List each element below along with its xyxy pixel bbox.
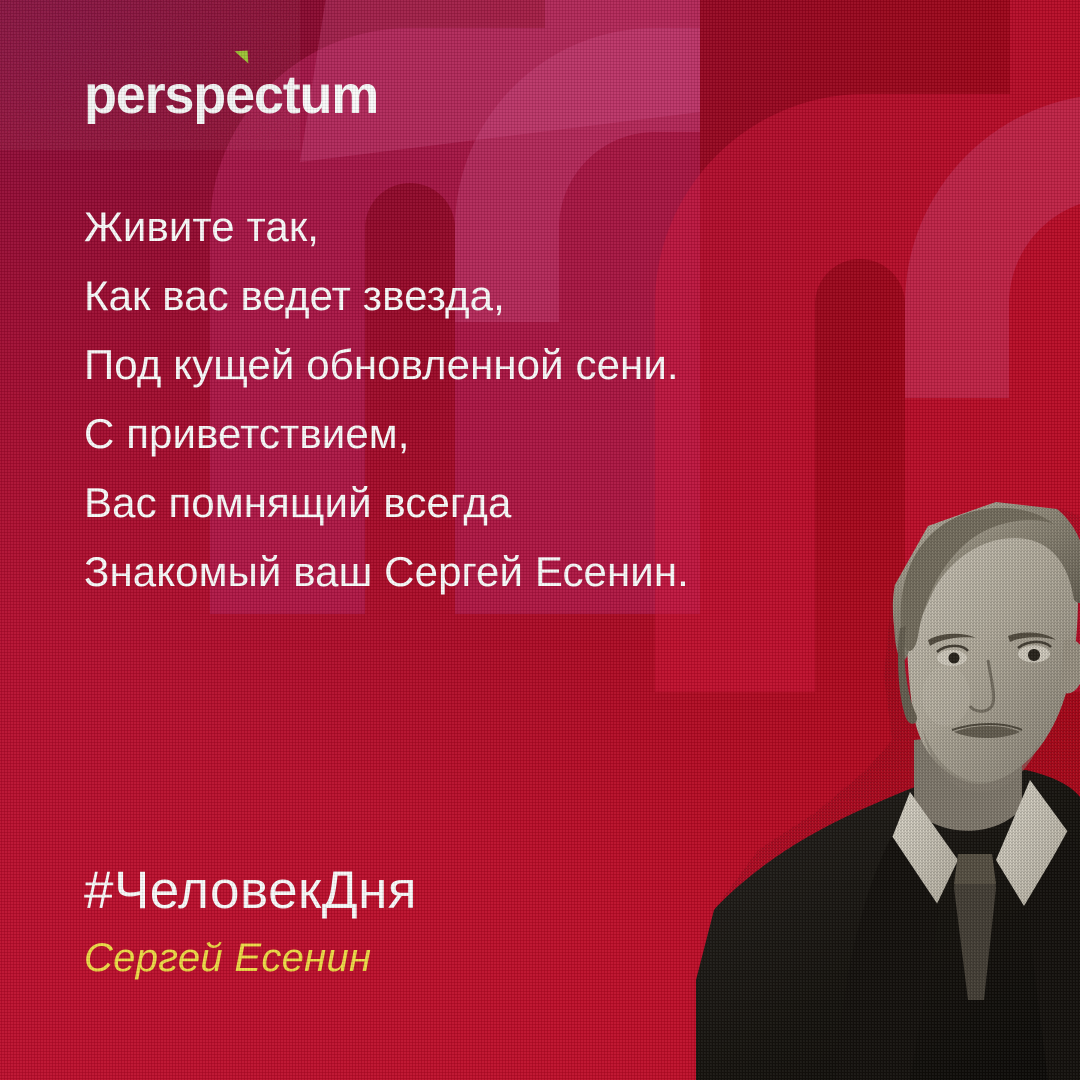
quote-line: Под кущей обновленной сени. <box>84 330 824 399</box>
quote-line: Живите так, <box>84 192 824 261</box>
author-name: Сергей Есенин <box>84 938 371 978</box>
quote-poster: perspectum Живите так, Как вас ведет зве… <box>0 0 1080 1080</box>
quote-line: С приветствием, <box>84 399 824 468</box>
quote-line: Знакомый ваш Сергей Есенин. <box>84 537 824 606</box>
logo-accent-letter: e <box>225 65 254 125</box>
quote-line: Как вас ведет звезда, <box>84 261 824 330</box>
logo-text-after: ctum <box>254 65 378 125</box>
logo-text-before: persp <box>84 65 225 125</box>
quote-block: Живите так, Как вас ведет звезда, Под ку… <box>84 192 824 606</box>
leaf-accent-icon <box>231 51 249 65</box>
logo-accent-letter-wrap: e <box>225 68 254 122</box>
brand-logo: perspectum <box>84 68 378 122</box>
quote-line: Вас помнящий всегда <box>84 468 824 537</box>
hashtag-label: #ЧеловекДня <box>84 864 417 917</box>
